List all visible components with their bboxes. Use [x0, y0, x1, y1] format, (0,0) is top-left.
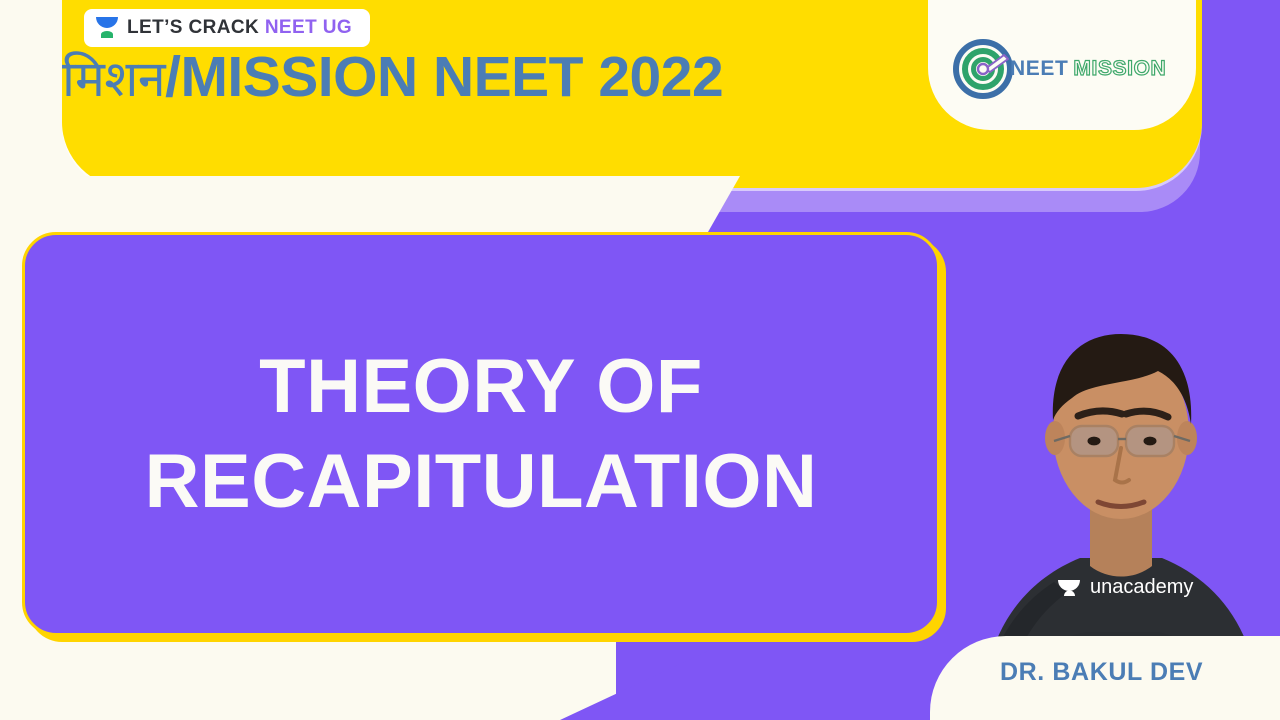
topic-card: THEORY OF RECAPITULATION: [22, 232, 940, 636]
unacademy-logo-icon: [96, 15, 118, 41]
lecture-thumbnail: LET’S CRACK NEET UG मिशन/MISSION NEET 20…: [0, 0, 1280, 720]
neet-mission-logo: NEETMISSION: [952, 38, 1166, 100]
svg-text:unacademy: unacademy: [1090, 576, 1193, 598]
page-title-english: MISSION NEET 2022: [180, 45, 723, 109]
target-dart-icon: [952, 38, 1014, 100]
presenter-name: DR. BAKUL DEV: [1000, 658, 1203, 687]
brand-word-neet: NEET: [1010, 57, 1068, 80]
lets-crack-badge: LET’S CRACK NEET UG: [84, 9, 370, 47]
badge-label: LET’S CRACK NEET UG: [127, 17, 352, 39]
topic-title-line-2: RECAPITULATION: [145, 434, 818, 529]
topic-title: THEORY OF RECAPITULATION: [125, 339, 838, 529]
page-title-hindi: मिशन: [62, 50, 165, 108]
badge-label-primary: LET’S CRACK: [127, 17, 265, 38]
badge-label-accent: NEET UG: [265, 17, 352, 38]
page-title: मिशन/MISSION NEET 2022: [62, 48, 723, 108]
neet-mission-wordmark: NEETMISSION: [1010, 57, 1166, 81]
page-title-separator: /: [165, 45, 180, 109]
topic-title-line-1: THEORY OF: [145, 339, 818, 434]
brand-word-mission: MISSION: [1073, 57, 1166, 80]
